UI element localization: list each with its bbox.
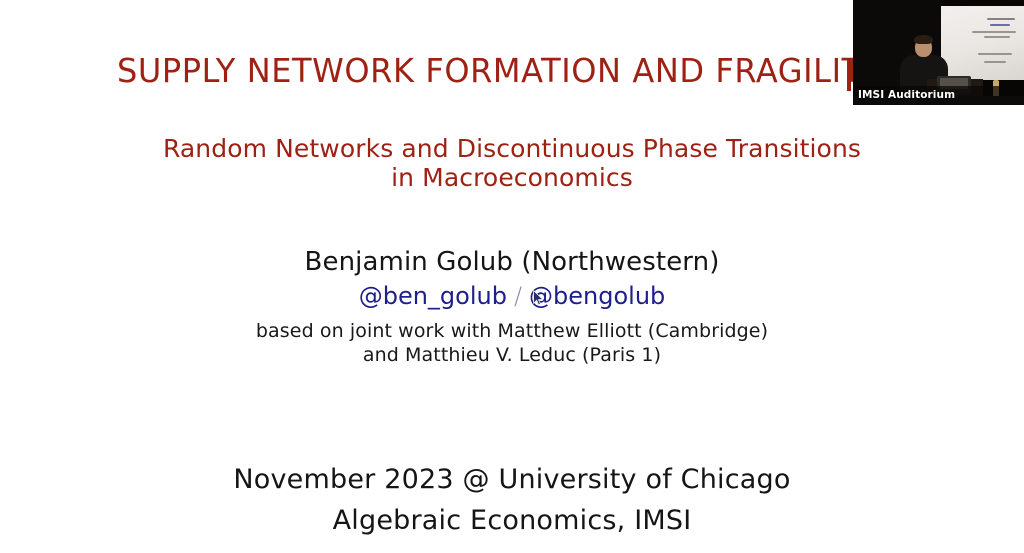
coauthors-line-1: based on joint work with Matthew Elliott…: [256, 320, 768, 342]
video-location-label: IMSI Auditorium: [853, 86, 1024, 105]
title-clipped-glyph: [847, 59, 851, 91]
projected-text-line: [972, 31, 1016, 33]
social-handles: @ben_golub/@bengolub: [0, 282, 1024, 310]
slide-subtitle-line-1: Random Networks and Discontinuous Phase …: [163, 134, 861, 163]
presentation-slide: SUPPLY NETWORK FORMATION AND FRAGILITY R…: [0, 0, 1024, 553]
handle-twitter-link[interactable]: @ben_golub: [359, 282, 507, 310]
handle-separator: /: [507, 282, 529, 310]
slide-subtitle: Random Networks and Discontinuous Phase …: [0, 134, 1024, 193]
venue-line-1: November 2023 @ University of Chicago: [233, 464, 790, 495]
projected-text-line: [978, 53, 1012, 55]
projected-text-line: [984, 61, 1006, 63]
projected-text-line: [984, 36, 1010, 38]
projected-text-line: [990, 24, 1010, 26]
author-block: Benjamin Golub (Northwestern) @ben_golub…: [0, 247, 1024, 310]
handle-bluesky-link[interactable]: @bengolub: [529, 282, 665, 310]
venue-block: November 2023 @ University of Chicago Al…: [0, 460, 1024, 541]
author-name: Benjamin Golub (Northwestern): [0, 247, 1024, 278]
video-overlay[interactable]: IMSI Auditorium: [853, 0, 1024, 105]
coauthors-line-2: and Matthieu V. Leduc (Paris 1): [0, 344, 1024, 368]
projected-slide: [939, 6, 1024, 80]
projected-text-line: [987, 18, 1015, 20]
slide-subtitle-line-2: in Macroeconomics: [0, 163, 1024, 192]
coauthors-credit: based on joint work with Matthew Elliott…: [0, 320, 1024, 368]
speaker-hair: [914, 35, 933, 44]
venue-line-2: Algebraic Economics, IMSI: [0, 501, 1024, 542]
video-location-text: IMSI Auditorium: [858, 89, 955, 101]
